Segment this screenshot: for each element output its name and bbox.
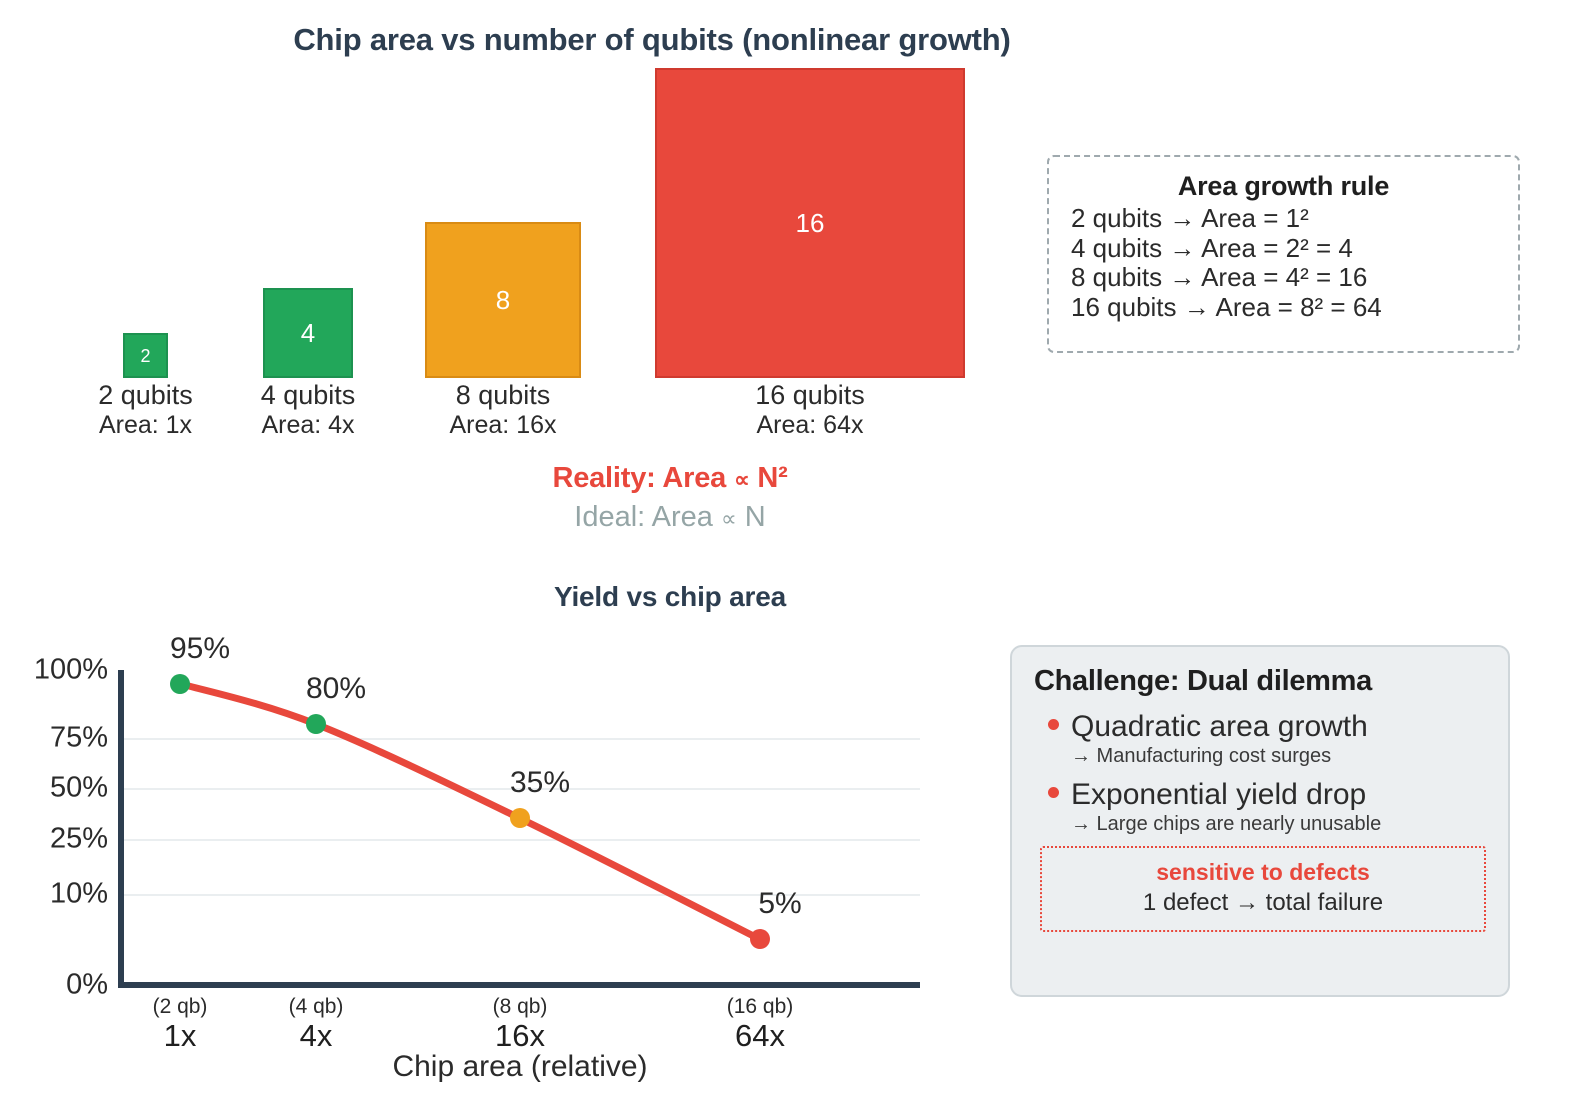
qubit-square-value: 16: [796, 210, 825, 236]
challenge-title: Challenge: Dual dilemma: [1034, 665, 1488, 698]
bullet-dot-icon: [1048, 787, 1059, 798]
y-axis-tick-label: 75%: [0, 721, 108, 754]
qubit-square: 16: [655, 68, 965, 378]
x-tick-label: 1x: [153, 1018, 208, 1054]
yield-chart-title: Yield vs chip area: [0, 581, 1340, 613]
challenge-item-main: Exponential yield drop: [1071, 778, 1366, 811]
qubit-count-label: 4 qubits: [261, 380, 356, 410]
qubit-square: 8: [425, 222, 581, 378]
proportional-icon: ∝: [734, 467, 750, 492]
x-axis-title: Chip area (relative): [120, 1050, 920, 1084]
x-tick-sublabel: (16 qb): [727, 995, 794, 1018]
qubit-square-caption: 2 qubitsArea: 1x: [98, 378, 193, 440]
data-point-marker: [306, 714, 326, 734]
x-tick-label: 4x: [289, 1018, 344, 1054]
challenge-item: Exponential yield drop → Large chips are…: [1048, 778, 1488, 836]
x-axis-tick: (16 qb)64x: [727, 995, 794, 1054]
data-point-marker: [170, 674, 190, 694]
qubit-area-label: Area: 16x: [449, 411, 556, 440]
ideal-relation: Ideal: Area ∝ N: [0, 501, 1340, 534]
qubit-area-label: Area: 64x: [755, 411, 865, 440]
qubit-square: 4: [263, 288, 353, 378]
x-axis-tick: (8 qb)16x: [493, 995, 548, 1054]
reality-relation: Reality: Area ∝ N²: [0, 462, 1340, 495]
qubit-square-value: 8: [496, 287, 510, 313]
qubit-area-label: Area: 1x: [98, 411, 193, 440]
y-axis-tick-label: 10%: [0, 877, 108, 910]
x-tick-sublabel: (4 qb): [289, 995, 344, 1018]
data-point-label: 80%: [306, 672, 366, 706]
x-tick-sublabel: (8 qb): [493, 995, 548, 1018]
proportional-icon: ∝: [721, 506, 737, 531]
chip-area-title: Chip area vs number of qubits (nonlinear…: [0, 22, 1444, 58]
x-axis-tick: (4 qb)4x: [289, 995, 344, 1054]
reality-prefix: Reality: Area: [552, 462, 733, 494]
rule-line-2: 4 qubits → Area = 2² = 4: [1071, 234, 1496, 264]
qubit-count-label: 8 qubits: [456, 380, 551, 410]
challenge-box: Challenge: Dual dilemma Quadratic area g…: [1010, 645, 1510, 997]
area-growth-rule-box: Area growth rule 2 qubits → Area = 1² 4 …: [1047, 155, 1520, 353]
qubit-count-label: 2 qubits: [98, 380, 193, 410]
qubit-square-caption: 4 qubitsArea: 4x: [261, 378, 356, 440]
defect-box-title: sensitive to defects: [1050, 858, 1476, 887]
qubit-square-group: 88 qubitsArea: 16x: [425, 222, 581, 378]
rule-line-1: 2 qubits → Area = 1²: [1071, 204, 1496, 234]
qubit-square-value: 4: [301, 320, 315, 346]
challenge-item-sub: → Manufacturing cost surges: [1071, 745, 1488, 768]
data-point-marker: [510, 808, 530, 828]
qubit-square: 2: [123, 333, 168, 378]
defect-sensitivity-box: sensitive to defects 1 defect → total fa…: [1040, 846, 1486, 932]
y-axis-tick-label: 50%: [0, 772, 108, 805]
rule-line-4: 16 qubits → Area = 8² = 64: [1071, 293, 1496, 323]
qubit-square-caption: 8 qubitsArea: 16x: [449, 378, 556, 440]
data-point-label: 5%: [758, 887, 801, 921]
y-axis-tick-label: 25%: [0, 822, 108, 855]
yield-curve: [180, 684, 760, 940]
challenge-item: Quadratic area growth → Manufacturing co…: [1048, 710, 1488, 768]
qubit-square-group: 1616 qubitsArea: 64x: [655, 68, 965, 378]
challenge-item-main: Quadratic area growth: [1071, 710, 1368, 743]
x-tick-sublabel: (2 qb): [153, 995, 208, 1018]
qubit-squares-group: 22 qubitsArea: 1x44 qubitsArea: 4x88 qub…: [0, 60, 1000, 440]
y-axis-tick-label: 100%: [0, 654, 108, 687]
ideal-suffix: N: [737, 501, 766, 533]
x-axis-tick: (2 qb)1x: [153, 995, 208, 1054]
infographic-root: Chip area vs number of qubits (nonlinear…: [0, 0, 1584, 1096]
reality-suffix: N²: [749, 462, 787, 494]
rule-line-3: 8 qubits → Area = 4² = 16: [1071, 263, 1496, 293]
qubit-square-group: 22 qubitsArea: 1x: [123, 333, 168, 378]
x-tick-label: 16x: [493, 1018, 548, 1054]
rule-box-title: Area growth rule: [1071, 171, 1496, 202]
qubit-square-caption: 16 qubitsArea: 64x: [755, 378, 865, 440]
challenge-item-sub: → Large chips are nearly unusable: [1071, 813, 1488, 836]
data-point-label: 95%: [170, 632, 230, 666]
qubit-count-label: 16 qubits: [755, 380, 865, 410]
bullet-dot-icon: [1048, 719, 1059, 730]
qubit-square-group: 44 qubitsArea: 4x: [263, 288, 353, 378]
qubit-square-value: 2: [140, 347, 150, 365]
ideal-prefix: Ideal: Area: [574, 501, 721, 533]
data-point-label: 35%: [510, 766, 570, 800]
yield-chart: 100%75%50%25%10%0% 95%80%35%5% (2 qb)1x(…: [0, 650, 960, 1096]
y-axis-tick-label: 0%: [0, 969, 108, 1002]
data-point-marker: [750, 929, 770, 949]
x-tick-label: 64x: [727, 1018, 794, 1054]
qubit-area-label: Area: 4x: [261, 411, 356, 440]
defect-box-sub: 1 defect → total failure: [1050, 887, 1476, 918]
